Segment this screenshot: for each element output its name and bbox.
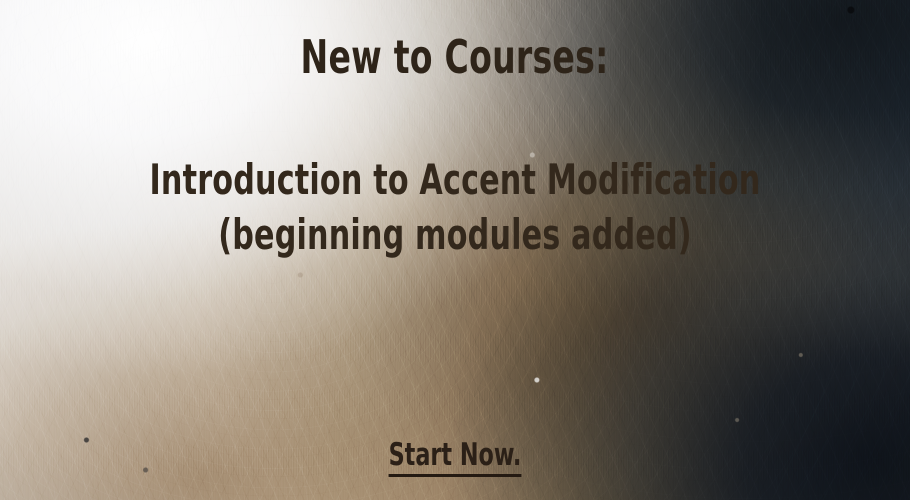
page-title: New to Courses: — [301, 34, 609, 80]
start-now-link[interactable]: Start Now. — [389, 440, 522, 477]
promo-slide: New to Courses: Introduction to Accent M… — [0, 0, 910, 500]
course-title-line-2: (beginning modules added) — [91, 207, 819, 262]
subheadline-block: Introduction to Accent Modification (beg… — [0, 152, 910, 263]
slide-content: New to Courses: Introduction to Accent M… — [0, 0, 910, 500]
course-title-line-1: Introduction to Accent Modification — [91, 152, 819, 207]
headline-block: New to Courses: — [0, 34, 910, 80]
cta-block: Start Now. — [0, 440, 910, 477]
